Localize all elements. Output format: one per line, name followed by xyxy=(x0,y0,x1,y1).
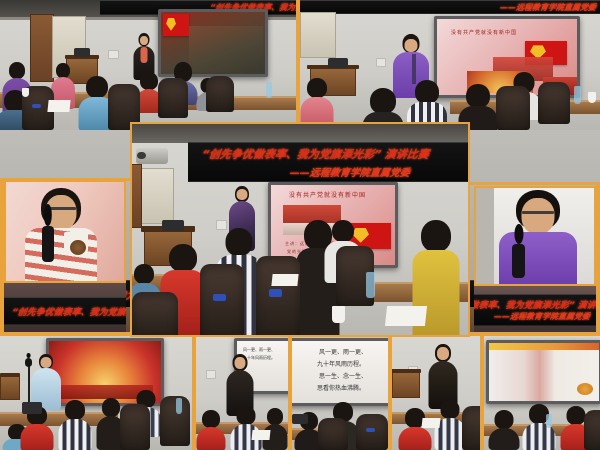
party-flag-graphic xyxy=(163,14,189,36)
banner-line-1: “创先争优做表率、我为党旗添光彩” 演讲比赛 xyxy=(201,146,430,162)
laptop xyxy=(292,414,308,424)
water-bottle xyxy=(176,398,182,414)
accent-rule-mid-right-top xyxy=(470,182,600,185)
handout-paper xyxy=(421,418,440,428)
collage-divider-vertical xyxy=(288,336,292,450)
panel-mid-center: “创先争优做表率、我为党旗添光彩” 演讲比赛 ——远程教育学院直属党委 没有共产… xyxy=(130,122,470,337)
handout-paper xyxy=(385,306,427,326)
podium xyxy=(0,374,20,400)
panel-mid-left-portrait xyxy=(4,180,126,283)
office-chair xyxy=(158,78,188,118)
paper-cup xyxy=(332,306,345,323)
office-chair xyxy=(356,414,388,450)
panel-top-right: ——远程教育学院直属党委 没有共产党就没有新中国 xyxy=(300,0,600,130)
handout-paper xyxy=(271,274,298,286)
banner-snippet-right: “创先争优做表率、我为党旗添光彩” 演讲比赛 ——远程教育学院直属党委 xyxy=(474,286,596,332)
wall-outlet xyxy=(376,58,386,67)
collage-divider-vertical xyxy=(388,336,392,450)
banner-strip-top-right: ——远程教育学院直属党委 xyxy=(300,0,600,14)
audience-member xyxy=(196,410,226,450)
podium-monitor xyxy=(74,48,90,57)
water-bottle xyxy=(266,82,272,98)
water-bottle xyxy=(546,414,552,428)
office-chair xyxy=(462,406,480,450)
accent-rule-left xyxy=(0,178,4,334)
office-chair xyxy=(318,418,348,450)
slide-title-top-right: 没有共产党就没有新中国 xyxy=(451,29,517,36)
office-chair xyxy=(206,76,234,112)
office-chair xyxy=(200,264,244,335)
panel-bottom-three: 风一更、雨一更、 九十年风雨历程。 思一生、念一生、 思看你热血沸腾。 xyxy=(292,336,388,450)
speaker-bottom-four xyxy=(428,344,458,406)
ceiling-projector xyxy=(136,148,168,164)
banner-snippet-left: “创先争优做表率、我为党旗添光彩” 演讲比赛 xyxy=(4,283,126,332)
wall-cabinet xyxy=(300,12,336,58)
office-chair xyxy=(256,256,300,335)
banner-line-2: ——远程教育学院直属党委 xyxy=(499,2,597,13)
event-banner: “创先争优做表率、我为党旗添光彩” 演讲比赛 ——远程教育学院直属党委 xyxy=(188,142,468,182)
audience-member xyxy=(58,400,92,450)
wall-cabinet xyxy=(138,168,174,224)
whiteboard-text: 风一更、雨一更、 xyxy=(243,347,275,353)
paper-cup xyxy=(22,88,29,97)
poem-line: 风一更、雨一更、 xyxy=(319,347,367,356)
panel-mid-right-portrait xyxy=(474,186,596,286)
eyeglasses xyxy=(522,211,554,214)
speaker-bottom-two xyxy=(226,354,254,414)
audience-member xyxy=(488,410,520,450)
wall-outlet xyxy=(108,50,119,59)
water-bottle xyxy=(574,86,581,104)
poem-line: 九十年风雨历程。 xyxy=(317,359,365,368)
office-chair xyxy=(132,292,178,335)
office-chair xyxy=(160,396,190,446)
panel-bottom-two: 风一更、雨一更、 九十年风雨历程。 xyxy=(196,336,288,450)
audience-member xyxy=(230,406,262,450)
photo-collage: “创先争优做表率、我为党旗添光彩” 演讲比赛 xyxy=(0,0,600,450)
panel-bottom-one xyxy=(0,336,192,450)
laptop xyxy=(22,402,42,414)
handout-paper xyxy=(47,100,70,112)
podium-monitor xyxy=(328,58,348,68)
microphone xyxy=(42,226,54,262)
handout-paper xyxy=(251,430,270,440)
collage-divider-vertical xyxy=(480,336,484,450)
collage-divider-vertical xyxy=(296,0,300,130)
speaker-mid-left xyxy=(24,188,98,281)
banner-line-1: “创先争优做表率、我为党旗添光彩” 演讲比赛 xyxy=(474,298,596,311)
event-banner-right: “创先争优做表率、我为党旗添光彩” 演讲比赛 ——远程教育学院直属党委 xyxy=(474,294,596,326)
panel-top-left: “创先争优做表率、我为党旗添光彩” 演讲比赛 xyxy=(0,0,296,130)
slide-title-center: 没有共产党就没有新中国 xyxy=(289,190,366,199)
water-bottle xyxy=(366,272,375,298)
office-chair xyxy=(584,410,600,450)
event-banner-left: “创先争优做表率、我为党旗添光彩” 演讲比赛 xyxy=(4,297,126,325)
podium-monitor xyxy=(162,220,184,231)
poem-line: 思看你热血沸腾。 xyxy=(317,383,365,392)
banner-line-2: ——远程教育学院直属党委 xyxy=(493,311,591,322)
wall-outlet xyxy=(206,370,216,379)
accent-rule-mid-left-top xyxy=(0,178,130,181)
poem-line: 思一生、念一生、 xyxy=(319,371,367,380)
banner-line-2: ——远程教育学院直属党委 xyxy=(289,164,411,179)
office-chair xyxy=(538,82,570,124)
audience-member xyxy=(262,408,288,450)
microphone xyxy=(512,244,525,278)
poem-projection-screen: 风一更、雨一更、 九十年风雨历程。 思一生、念一生、 思看你热血沸腾。 xyxy=(292,338,388,406)
office-chair xyxy=(496,86,530,130)
speaker-mid-right xyxy=(498,190,578,284)
accent-rule-right xyxy=(596,182,600,334)
audience-member xyxy=(398,408,432,450)
panel-bottom-four xyxy=(392,336,480,450)
door xyxy=(132,164,142,228)
paper-cup xyxy=(588,92,596,103)
projection-screen xyxy=(486,340,600,404)
panel-bottom-five xyxy=(484,336,600,450)
podium xyxy=(392,370,420,398)
banner-line-1: “创先争优做表率、我为党旗添光彩” 演讲比赛 xyxy=(11,305,126,318)
office-chair xyxy=(120,404,150,450)
collage-divider-vertical xyxy=(192,336,196,450)
